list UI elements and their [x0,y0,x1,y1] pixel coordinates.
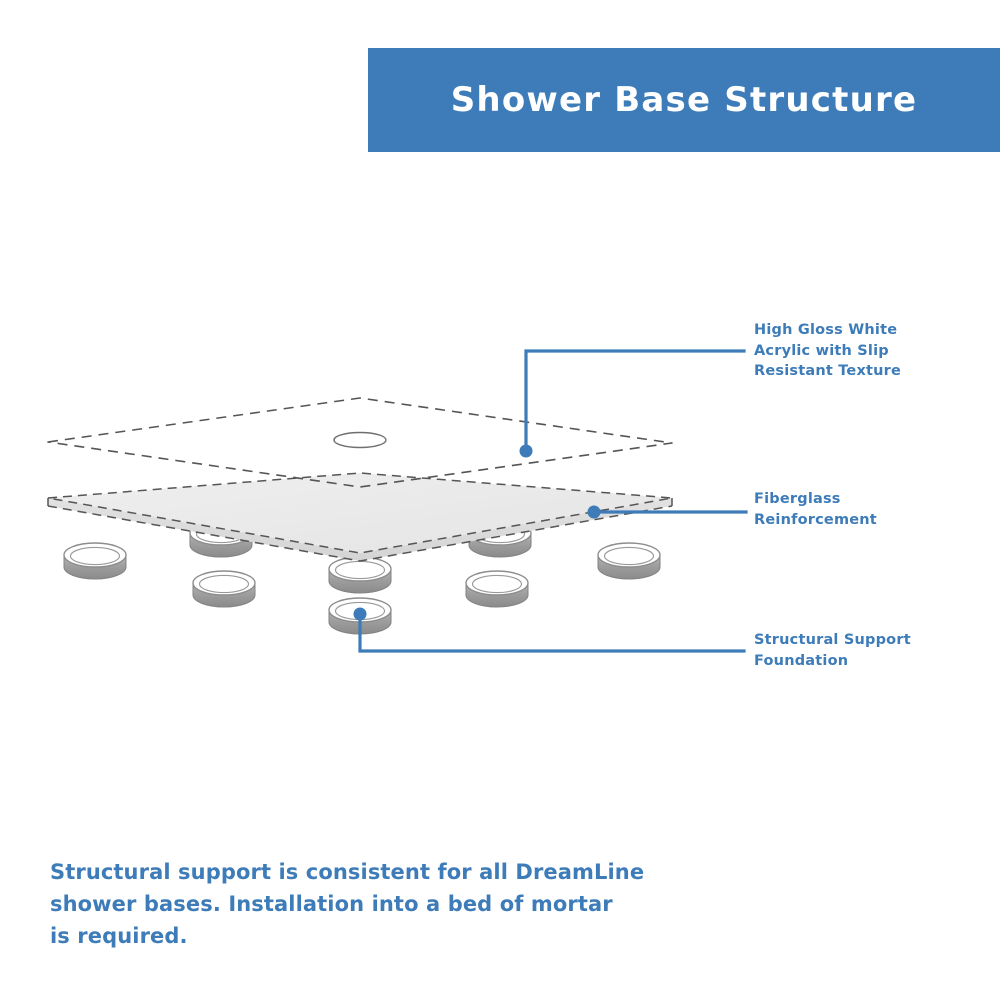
support-ring [466,571,528,607]
leader-dot-fiberglass [588,506,601,519]
leader-line-acrylic [520,351,745,458]
fiberglass-slab-layer [48,473,672,561]
support-ring [193,571,255,607]
page-title: Shower Base Structure [451,80,917,120]
footer-caption: Structural support is consistent for all… [50,857,710,953]
header-banner: Shower Base Structure [368,48,1000,152]
leader-dot-acrylic [520,445,533,458]
leader-line-support [354,608,745,652]
callout-label-fiberglass: Fiberglass Reinforcement [754,489,984,530]
support-ring [598,543,660,579]
support-ring [64,543,126,579]
leader-dot-support [354,608,367,621]
diagram-page: Shower Base Structure [0,0,1000,1000]
callout-label-support: Structural Support Foundation [754,630,984,671]
drain-opening-icon [334,433,386,448]
callout-label-acrylic: High Gloss White Acrylic with Slip Resis… [754,320,984,382]
support-ring [329,557,391,593]
